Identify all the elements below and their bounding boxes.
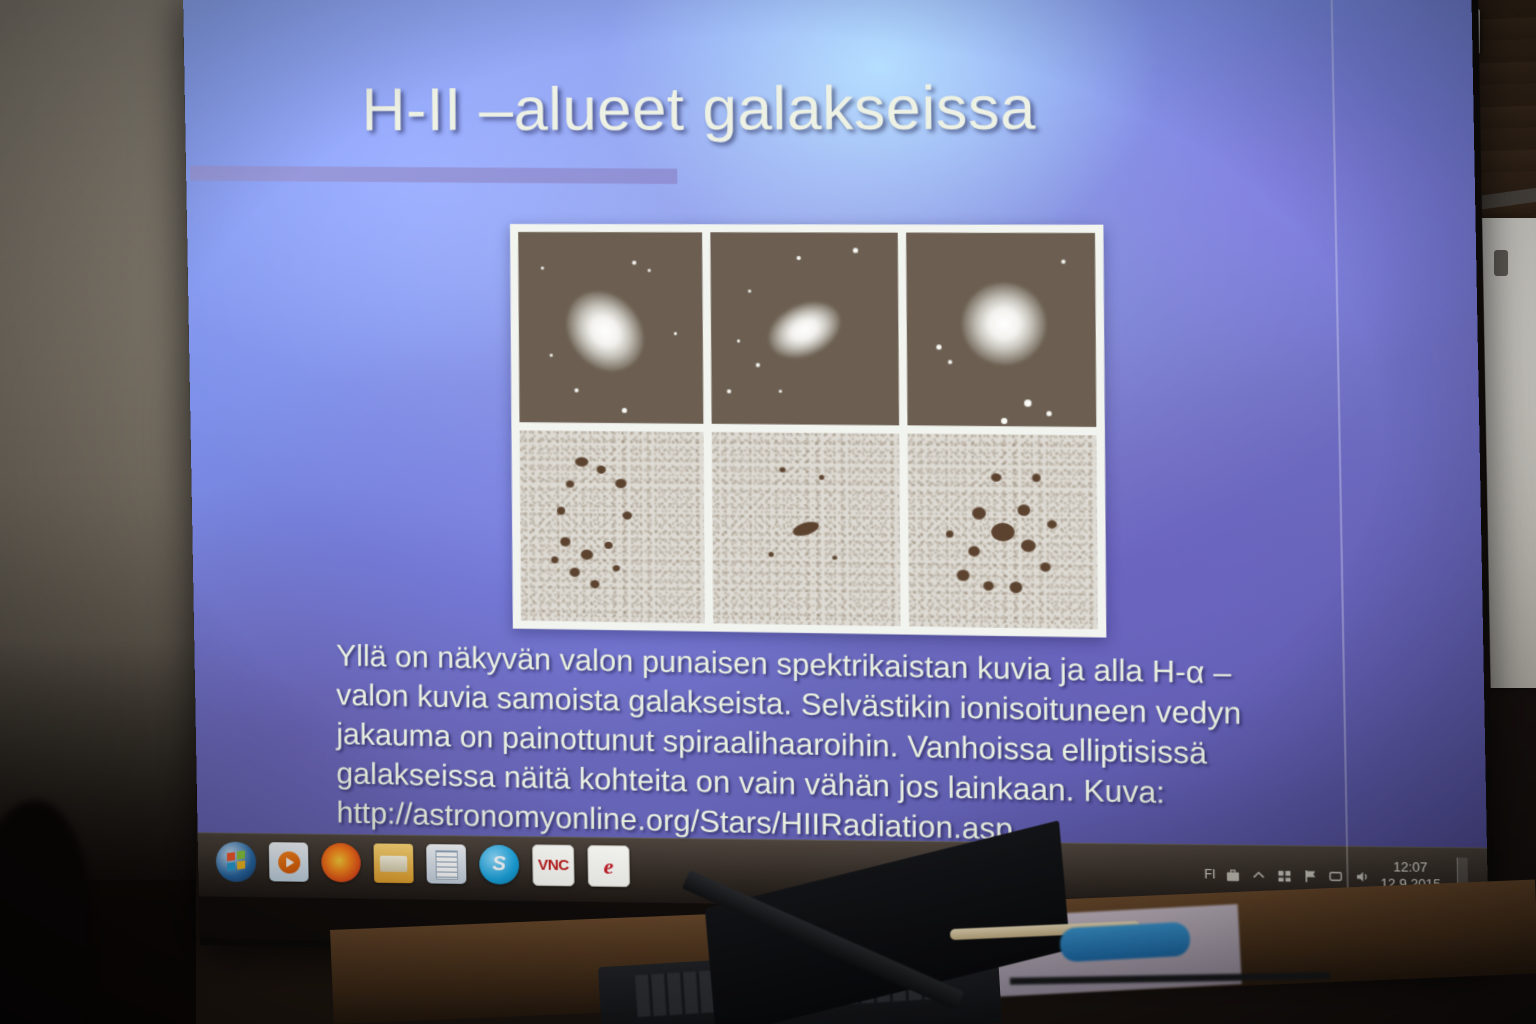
- galaxy-ellipse: [551, 277, 659, 386]
- galaxy-ellipse: [954, 274, 1055, 373]
- title-underline-rule: [190, 166, 677, 184]
- grid-cell-bottom-left: [520, 430, 706, 623]
- clock-time: 12:07: [1380, 860, 1441, 877]
- grid-cell-top-left: [518, 232, 704, 424]
- firefox-icon[interactable]: [321, 843, 361, 883]
- flag-icon[interactable]: [1303, 868, 1319, 884]
- network-icon[interactable]: [1328, 868, 1344, 884]
- galaxy-image-grid: [510, 224, 1106, 638]
- grid-cell-bottom-center: [712, 432, 900, 626]
- slide-title: H-II –alueet galakseissa: [361, 71, 1257, 144]
- explorer-icon[interactable]: [374, 843, 414, 883]
- skype-icon[interactable]: S: [479, 845, 519, 885]
- galaxy-ellipse: [760, 292, 850, 369]
- grid-cell-top-right: [906, 233, 1097, 427]
- e-app-icon[interactable]: e: [587, 845, 630, 887]
- document-icon[interactable]: [426, 844, 466, 884]
- grid-cell-top-center: [711, 232, 899, 425]
- projection-screen: H-II –alueet galakseissa: [183, 0, 1489, 958]
- chevron-up-icon[interactable]: [1251, 867, 1267, 883]
- bag-icon[interactable]: [1225, 867, 1241, 883]
- slide-body-text: Yllä on näkyvän valon punaisen spektrika…: [336, 636, 1317, 857]
- taskbar-icon-strip: S VNC e: [216, 841, 630, 888]
- grain-texture: [520, 430, 706, 623]
- grid-cell-bottom-right: [907, 434, 1098, 630]
- media-player-icon[interactable]: [269, 842, 309, 882]
- blue-object: [1059, 922, 1191, 963]
- whiteboard-clip: [1494, 250, 1508, 276]
- action-center-icon[interactable]: [1277, 867, 1293, 883]
- powerpoint-slide: H-II –alueet galakseissa: [183, 0, 1487, 848]
- language-indicator[interactable]: FI: [1204, 867, 1216, 882]
- screenshot-root: H-II –alueet galakseissa: [0, 0, 1536, 1024]
- start-orb-icon[interactable]: [216, 841, 257, 882]
- vnc-icon[interactable]: VNC: [532, 844, 575, 886]
- volume-icon[interactable]: [1354, 868, 1370, 884]
